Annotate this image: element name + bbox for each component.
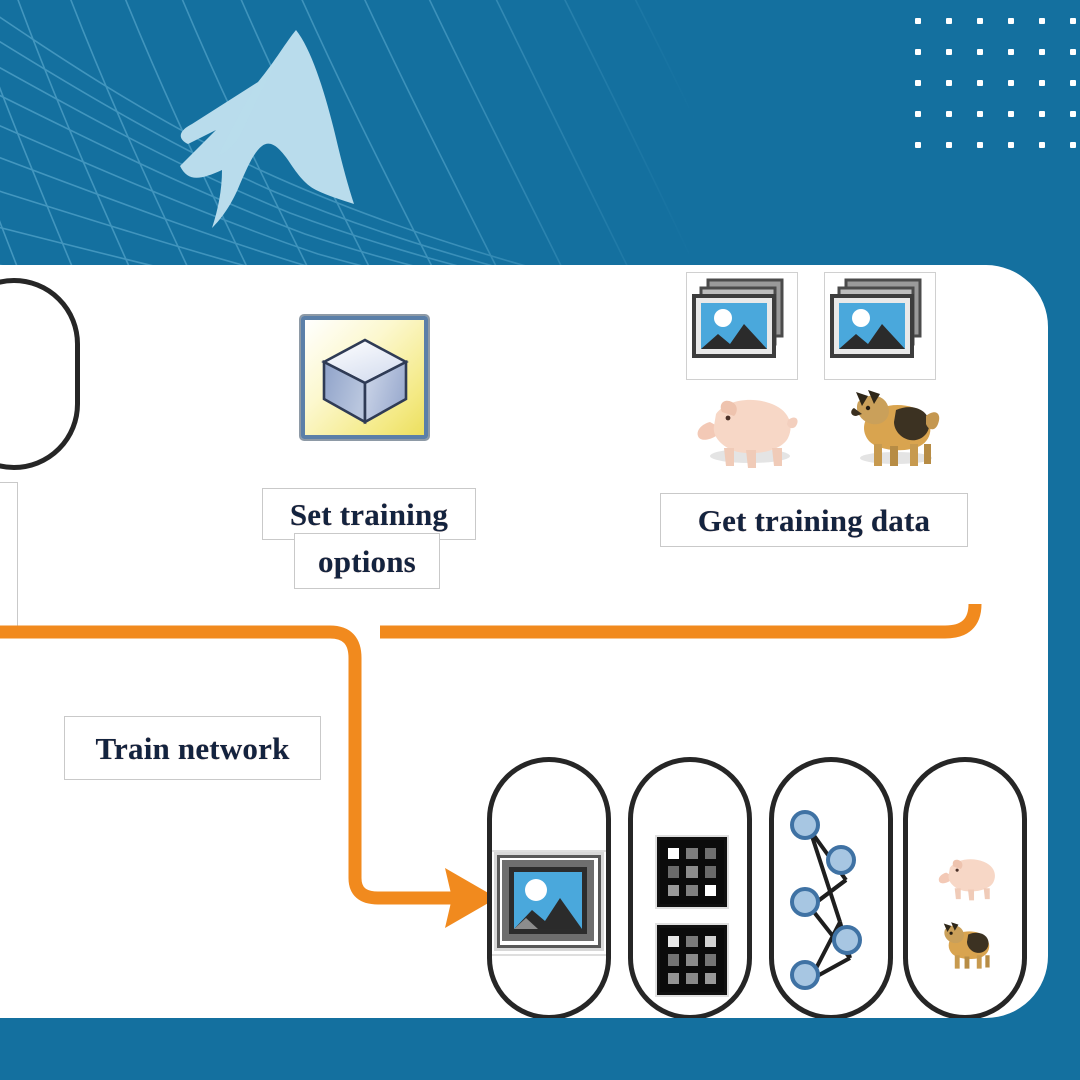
fmap-cell: [686, 885, 697, 896]
grid-dot: [946, 49, 952, 55]
fmap-cell: [668, 885, 679, 896]
define-network-label-clipped: n: [0, 482, 18, 630]
fmap-cell: [705, 885, 716, 896]
grid-dot: [1039, 142, 1045, 148]
train-network-label: Train network: [64, 716, 321, 780]
fmap-cell: [705, 954, 716, 965]
image-stack-icon-pig: [686, 272, 798, 380]
grid-dot: [1039, 49, 1045, 55]
cube-icon: [301, 316, 428, 439]
grid-dot: [1070, 80, 1076, 86]
output-dog-sprite: [934, 912, 1000, 979]
image-stack-icon-dog: [824, 272, 936, 380]
grid-dot: [915, 49, 921, 55]
layer-define-network-clipped: [0, 278, 80, 470]
dog-sprite: [840, 374, 948, 479]
footer-band: [0, 1018, 1080, 1080]
fmap-cell: [686, 954, 697, 965]
grid-dot: [1008, 80, 1014, 86]
grid-dot: [1008, 18, 1014, 24]
grid-dot: [977, 80, 983, 86]
grid-dot: [1039, 18, 1045, 24]
feature-map-icon-2: [657, 925, 727, 995]
grid-dot: [915, 142, 921, 148]
grid-dot: [1070, 18, 1076, 24]
fmap-cell: [668, 973, 679, 984]
grid-dot: [915, 80, 921, 86]
content-card: n Set training options: [0, 265, 1048, 1018]
grid-dot: [946, 18, 952, 24]
grid-dot: [946, 80, 952, 86]
get-training-data-label: Get training data: [660, 493, 968, 547]
fmap-cell: [686, 866, 697, 877]
fmap-cell: [686, 973, 697, 984]
grid-dot: [977, 142, 983, 148]
fmap-cell: [705, 866, 716, 877]
grid-dot: [946, 142, 952, 148]
net-node: [826, 845, 856, 875]
grid-dot: [1070, 49, 1076, 55]
layer-fully-connected: [769, 757, 893, 1018]
net-node: [832, 925, 862, 955]
output-pig-sprite: [932, 846, 1004, 909]
net-node: [790, 887, 820, 917]
net-node: [790, 960, 820, 990]
fmap-cell: [668, 848, 679, 859]
fmap-cell: [668, 866, 679, 877]
net-node: [790, 810, 820, 840]
grid-dot: [977, 111, 983, 117]
grid-dot: [977, 18, 983, 24]
fmap-cell: [668, 954, 679, 965]
grid-dot: [1039, 111, 1045, 117]
grid-dot: [946, 111, 952, 117]
pig-sprite: [688, 378, 804, 479]
grid-dot: [1008, 111, 1014, 117]
grid-dot: [915, 111, 921, 117]
grid-dot: [1039, 80, 1045, 86]
grid-dot: [1070, 111, 1076, 117]
grid-dot: [1008, 49, 1014, 55]
image-icon: [497, 855, 601, 948]
grid-dot: [1070, 142, 1076, 148]
brand-header-band: [0, 0, 1080, 270]
set-training-options-label-line2: options: [294, 533, 440, 589]
feature-map-icon-1: [657, 837, 727, 907]
fmap-cell: [668, 936, 679, 947]
grid-dot: [977, 49, 983, 55]
matlab-logo: [130, 20, 360, 240]
fmap-cell: [705, 936, 716, 947]
fmap-cell: [705, 973, 716, 984]
fmap-cell: [705, 848, 716, 859]
fmap-cell: [686, 848, 697, 859]
grid-dot: [915, 18, 921, 24]
fmap-cell: [686, 936, 697, 947]
dot-grid-pattern: [915, 18, 1080, 168]
membrane-mesh-graphic: [0, 0, 760, 270]
grid-dot: [1008, 142, 1014, 148]
